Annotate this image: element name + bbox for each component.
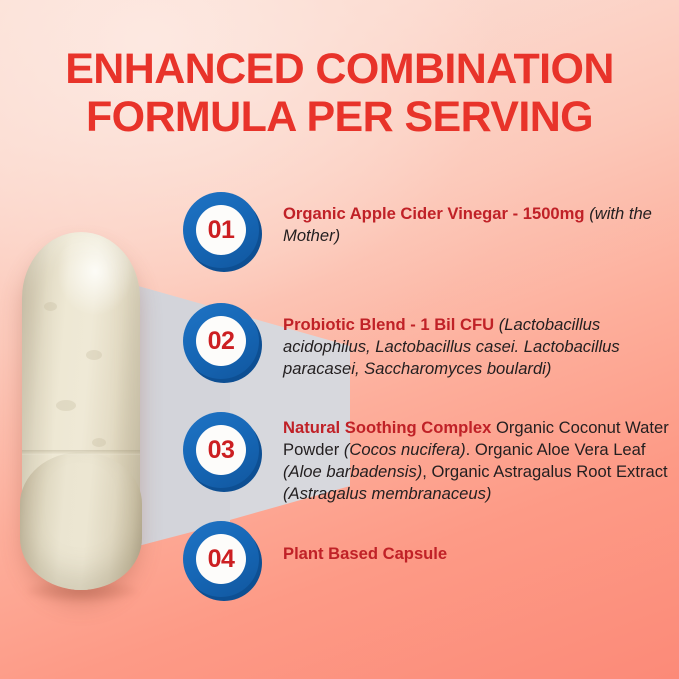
badge-number: 01: [208, 218, 235, 243]
ingredient-heading: Natural Soothing Complex: [283, 418, 491, 437]
ingredient-detail-segment: . Organic Aloe Vera Leaf: [466, 440, 646, 459]
ingredient-text: Probiotic Blend - 1 Bil CFU (Lactobacill…: [283, 303, 677, 380]
step-badge: 02: [183, 303, 261, 381]
step-badge: 01: [183, 192, 261, 270]
ingredient-heading: Organic Apple Cider Vinegar - 1500mg: [283, 204, 585, 223]
list-item: 03 Natural Soothing Complex Organic Coco…: [183, 412, 679, 505]
list-item: 04 Plant Based Capsule: [183, 521, 583, 599]
step-badge: 04: [183, 521, 261, 599]
ingredient-detail-segment: (Astragalus membranaceus): [283, 484, 491, 503]
badge-inner-circle: 02: [196, 316, 246, 366]
badge-number: 02: [208, 329, 235, 354]
badge-number: 04: [208, 547, 235, 572]
list-item: 02 Probiotic Blend - 1 Bil CFU (Lactobac…: [183, 303, 679, 381]
ingredient-detail-segment: (Aloe barbadensis): [283, 462, 422, 481]
ingredient-list: 01 Organic Apple Cider Vinegar - 1500mg …: [0, 0, 679, 679]
badge-inner-circle: 03: [196, 425, 246, 475]
ingredient-detail-segment: (Cocos nucifera): [344, 440, 466, 459]
ingredient-heading: Probiotic Blend - 1 Bil CFU: [283, 315, 494, 334]
ingredient-text: Natural Soothing Complex Organic Coconut…: [283, 412, 677, 505]
step-badge: 03: [183, 412, 261, 490]
product-infographic: ENHANCED COMBINATION FORMULA PER SERVING…: [0, 0, 679, 679]
ingredient-text: Organic Apple Cider Vinegar - 1500mg (wi…: [283, 192, 663, 247]
list-item: 01 Organic Apple Cider Vinegar - 1500mg …: [183, 192, 663, 270]
ingredient-heading: Plant Based Capsule: [283, 544, 447, 563]
ingredient-text: Plant Based Capsule: [283, 521, 583, 565]
badge-inner-circle: 01: [196, 205, 246, 255]
badge-number: 03: [208, 438, 235, 463]
ingredient-detail-segment: , Organic Astragalus Root Extract: [422, 462, 667, 481]
badge-inner-circle: 04: [196, 534, 246, 584]
